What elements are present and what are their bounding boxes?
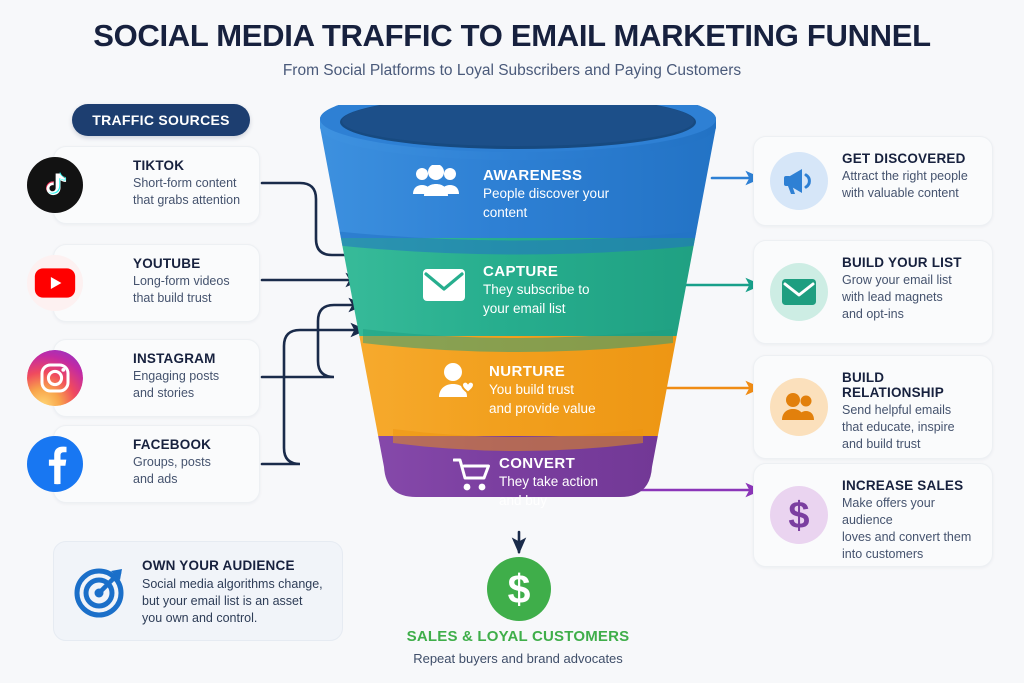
facebook-icon bbox=[27, 436, 83, 492]
outcome-title: BUILD YOUR LIST bbox=[842, 255, 984, 270]
source-name: TIKTOK bbox=[133, 158, 253, 173]
dollar-icon: $ bbox=[770, 486, 828, 544]
stage-desc: They subscribe to your email list bbox=[483, 281, 590, 318]
source-text-facebook: FACEBOOK Groups, posts and ads bbox=[133, 437, 253, 487]
people-group-icon bbox=[413, 165, 459, 204]
outcome-text-get-discovered: GET DISCOVERED Attract the right people … bbox=[842, 151, 984, 202]
source-text-instagram: INSTAGRAM Engaging posts and stories bbox=[133, 351, 253, 401]
source-desc: Long-form videos that build trust bbox=[133, 273, 253, 306]
outcome-text-increase-sales: INCREASE SALES Make offers your audience… bbox=[842, 478, 984, 563]
stage-desc: You build trust and provide value bbox=[489, 381, 596, 418]
own-your-audience-card: OWN YOUR AUDIENCE Social media algorithm… bbox=[53, 541, 343, 641]
outcome-card-build-your-list[interactable]: BUILD YOUR LIST Grow your email list wit… bbox=[753, 240, 993, 344]
megaphone-icon bbox=[770, 152, 828, 210]
svg-text:$: $ bbox=[508, 567, 531, 611]
traffic-sources-badge-label: TRAFFIC SOURCES bbox=[92, 112, 230, 128]
source-card-instagram[interactable]: INSTAGRAM Engaging posts and stories bbox=[53, 339, 260, 417]
source-name: INSTAGRAM bbox=[133, 351, 253, 366]
page-subtitle: From Social Platforms to Loyal Subscribe… bbox=[0, 62, 1024, 80]
source-desc: Short-form content that grabs attention bbox=[133, 175, 253, 208]
funnel-stage-text-capture: CAPTURE They subscribe to your email lis… bbox=[483, 263, 590, 318]
youtube-icon bbox=[27, 255, 83, 311]
funnel-stage-text-awareness: AWARENESS People discover your content bbox=[483, 167, 609, 222]
source-card-tiktok[interactable]: TIKTOK Short-form content that grabs att… bbox=[53, 146, 260, 224]
stage-name: CAPTURE bbox=[483, 263, 590, 280]
outcome-card-increase-sales[interactable]: $ INCREASE SALES Make offers your audien… bbox=[753, 463, 993, 567]
outcome-text-build-your-list: BUILD YOUR LIST Grow your email list wit… bbox=[842, 255, 984, 323]
outcome-desc: Make offers your audience loves and conv… bbox=[842, 495, 984, 563]
own-your-audience-title: OWN YOUR AUDIENCE bbox=[142, 558, 332, 573]
dollar-icon: $ bbox=[502, 567, 536, 611]
outcome-text-build-relationship: BUILD RELATIONSHIP Send helpful emails t… bbox=[842, 370, 984, 453]
person-heart-icon bbox=[437, 363, 479, 404]
stage-name: NURTURE bbox=[489, 363, 596, 380]
conversion-funnel: AWARENESS People discover your content C… bbox=[303, 105, 733, 535]
outcome-desc: Attract the right people with valuable c… bbox=[842, 168, 984, 202]
result-subtitle: Repeat buyers and brand advocates bbox=[318, 651, 718, 666]
target-icon bbox=[72, 562, 130, 620]
svg-text:$: $ bbox=[788, 495, 809, 535]
own-your-audience-text: OWN YOUR AUDIENCE Social media algorithm… bbox=[142, 558, 332, 627]
funnel-stage-text-convert: CONVERT They take action and buy bbox=[499, 455, 598, 510]
envelope-icon bbox=[423, 269, 465, 306]
outcome-title: GET DISCOVERED bbox=[842, 151, 984, 166]
stage-desc: People discover your content bbox=[483, 185, 609, 222]
outcome-title: BUILD RELATIONSHIP bbox=[842, 370, 984, 400]
result-badge: $ bbox=[487, 557, 551, 621]
source-name: FACEBOOK bbox=[133, 437, 253, 452]
source-card-youtube[interactable]: YOUTUBE Long-form videos that build trus… bbox=[53, 244, 260, 322]
people-pair-icon bbox=[770, 378, 828, 436]
page-title: SOCIAL MEDIA TRAFFIC TO EMAIL MARKETING … bbox=[0, 18, 1024, 54]
outcome-title: INCREASE SALES bbox=[842, 478, 984, 493]
source-card-facebook[interactable]: FACEBOOK Groups, posts and ads bbox=[53, 425, 260, 503]
tiktok-icon bbox=[27, 157, 83, 213]
source-desc: Groups, posts and ads bbox=[133, 454, 253, 487]
source-desc: Engaging posts and stories bbox=[133, 368, 253, 401]
source-name: YOUTUBE bbox=[133, 256, 253, 271]
stage-name: CONVERT bbox=[499, 455, 598, 472]
result-title: SALES & LOYAL CUSTOMERS bbox=[318, 628, 718, 645]
funnel-stage-text-nurture: NURTURE You build trust and provide valu… bbox=[489, 363, 596, 418]
stage-desc: They take action and buy bbox=[499, 473, 598, 510]
envelope-icon bbox=[770, 263, 828, 321]
source-text-youtube: YOUTUBE Long-form videos that build trus… bbox=[133, 256, 253, 306]
own-your-audience-desc: Social media algorithms change, but your… bbox=[142, 576, 332, 627]
outcome-desc: Send helpful emails that educate, inspir… bbox=[842, 402, 984, 453]
infographic-canvas: SOCIAL MEDIA TRAFFIC TO EMAIL MARKETING … bbox=[0, 0, 1024, 683]
outcome-card-build-relationship[interactable]: BUILD RELATIONSHIP Send helpful emails t… bbox=[753, 355, 993, 459]
outcome-desc: Grow your email list with lead magnets a… bbox=[842, 272, 984, 323]
instagram-icon bbox=[27, 350, 83, 406]
shopping-cart-icon bbox=[453, 457, 493, 498]
traffic-sources-badge: TRAFFIC SOURCES bbox=[72, 104, 250, 136]
stage-name: AWARENESS bbox=[483, 167, 609, 184]
source-text-tiktok: TIKTOK Short-form content that grabs att… bbox=[133, 158, 253, 208]
outcome-card-get-discovered[interactable]: GET DISCOVERED Attract the right people … bbox=[753, 136, 993, 226]
